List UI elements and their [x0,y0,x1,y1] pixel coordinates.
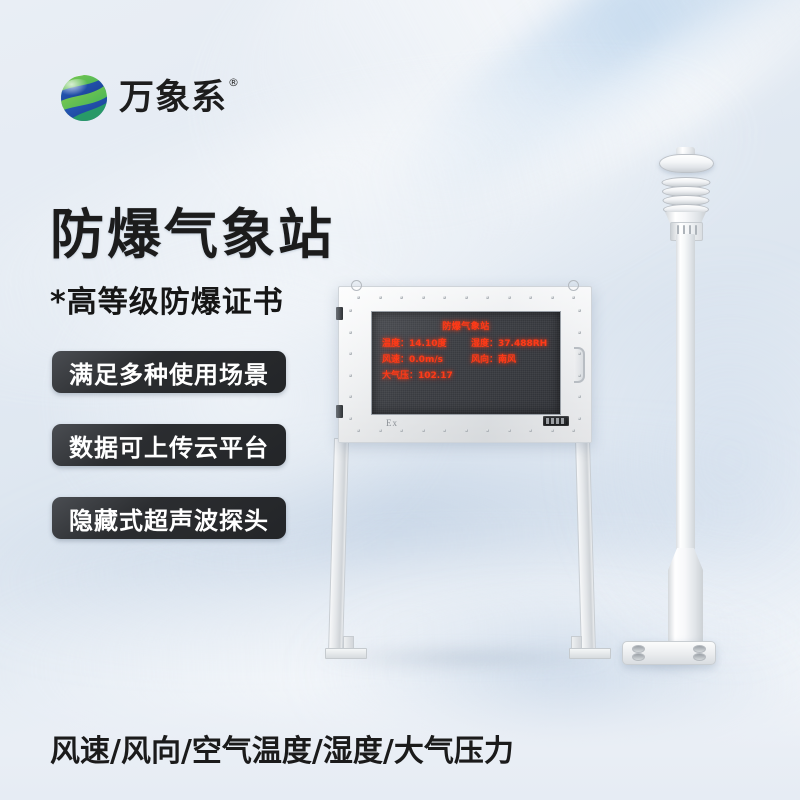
sensor-top-cap-icon [659,154,714,173]
bolt-icon [400,429,403,432]
bolt-icon [443,429,446,432]
bolt-icon [578,309,581,312]
globe-swirl-logo-icon [58,72,110,124]
bolt-icon [486,296,489,299]
brand-logo: 万象系® [58,72,227,124]
stand-foot-right [569,648,611,659]
bolt-icon [443,296,446,299]
ex-marking-label: Ex [386,418,398,428]
lifting-eye-icon [568,280,579,291]
bolt-icon [379,429,382,432]
bolt-icon [486,429,489,432]
bolt-icon [349,309,352,312]
bolt-icon [349,417,352,420]
led-reading-pressure: 大气压：102.17 [382,368,453,381]
feature-pill-2: 数据可上传云平台 [52,424,286,466]
bolt-icon [508,296,511,299]
bolt-icon [578,331,581,334]
led-reading-wind-speed: 风速：0.0m/s [382,352,443,365]
bolt-icon [529,429,532,432]
page-title: 防爆气象站 [50,190,335,269]
bolt-icon [349,395,352,398]
feature-pill-1: 满足多种使用场景 [52,351,286,393]
nameplate-label-icon [543,416,569,426]
bolt-icon [422,296,425,299]
bolt-icon [349,352,352,355]
feature-pill-3: 隐藏式超声波探头 [52,497,286,539]
bolt-icon [465,429,468,432]
registered-trademark-icon: ® [228,77,240,88]
mast-base-flare [668,548,703,648]
ultrasonic-probe-icon [695,225,697,235]
bolt-icon [357,429,360,432]
bolt-icon [529,296,532,299]
product-marketing-banner: 万象系® 防爆气象站 *高等级防爆证书 满足多种使用场景 数据可上传云平台 隐藏… [0,0,800,800]
bolt-icon [465,296,468,299]
lifting-eye-icon [351,280,362,291]
bolt-icon [572,296,575,299]
stand-foot-left [325,648,367,659]
led-reading-humidity: 湿度：37.488RH [471,336,547,349]
bolt-icon [551,296,554,299]
brand-name: 万象系® [119,81,227,116]
bolt-icon [572,429,575,432]
bolt-icon [578,417,581,420]
bolt-icon [357,296,360,299]
bolt-icon [349,374,352,377]
led-display-screen: 防爆气象站 温度：14.10度 风速：0.0m/s 大气压：102.17 湿度：… [371,311,561,415]
hinge-icon [336,405,343,418]
explosion-proof-enclosure: 防爆气象站 温度：14.10度 风速：0.0m/s 大气压：102.17 湿度：… [338,286,592,443]
mounting-mast [676,234,695,550]
page-subtitle: *高等级防爆证书 [50,277,284,321]
bolt-icon [400,296,403,299]
radiation-shield-icon [659,176,712,218]
led-reading-temperature: 温度：14.10度 [382,336,446,349]
bolt-icon [578,374,581,377]
bolt-icon [349,331,352,334]
bolt-icon [508,429,511,432]
feature-caption: 风速/风向/空气温度/湿度/大气压力 [50,726,514,770]
bolt-icon [551,429,554,432]
base-flange-plate-icon [622,641,716,665]
hinge-icon [336,307,343,320]
bolt-icon [379,296,382,299]
led-display-title: 防爆气象站 [372,319,560,332]
bolt-icon [578,395,581,398]
bolt-icon [578,352,581,355]
led-reading-wind-direction: 风向：南风 [471,352,516,365]
bolt-icon [422,429,425,432]
